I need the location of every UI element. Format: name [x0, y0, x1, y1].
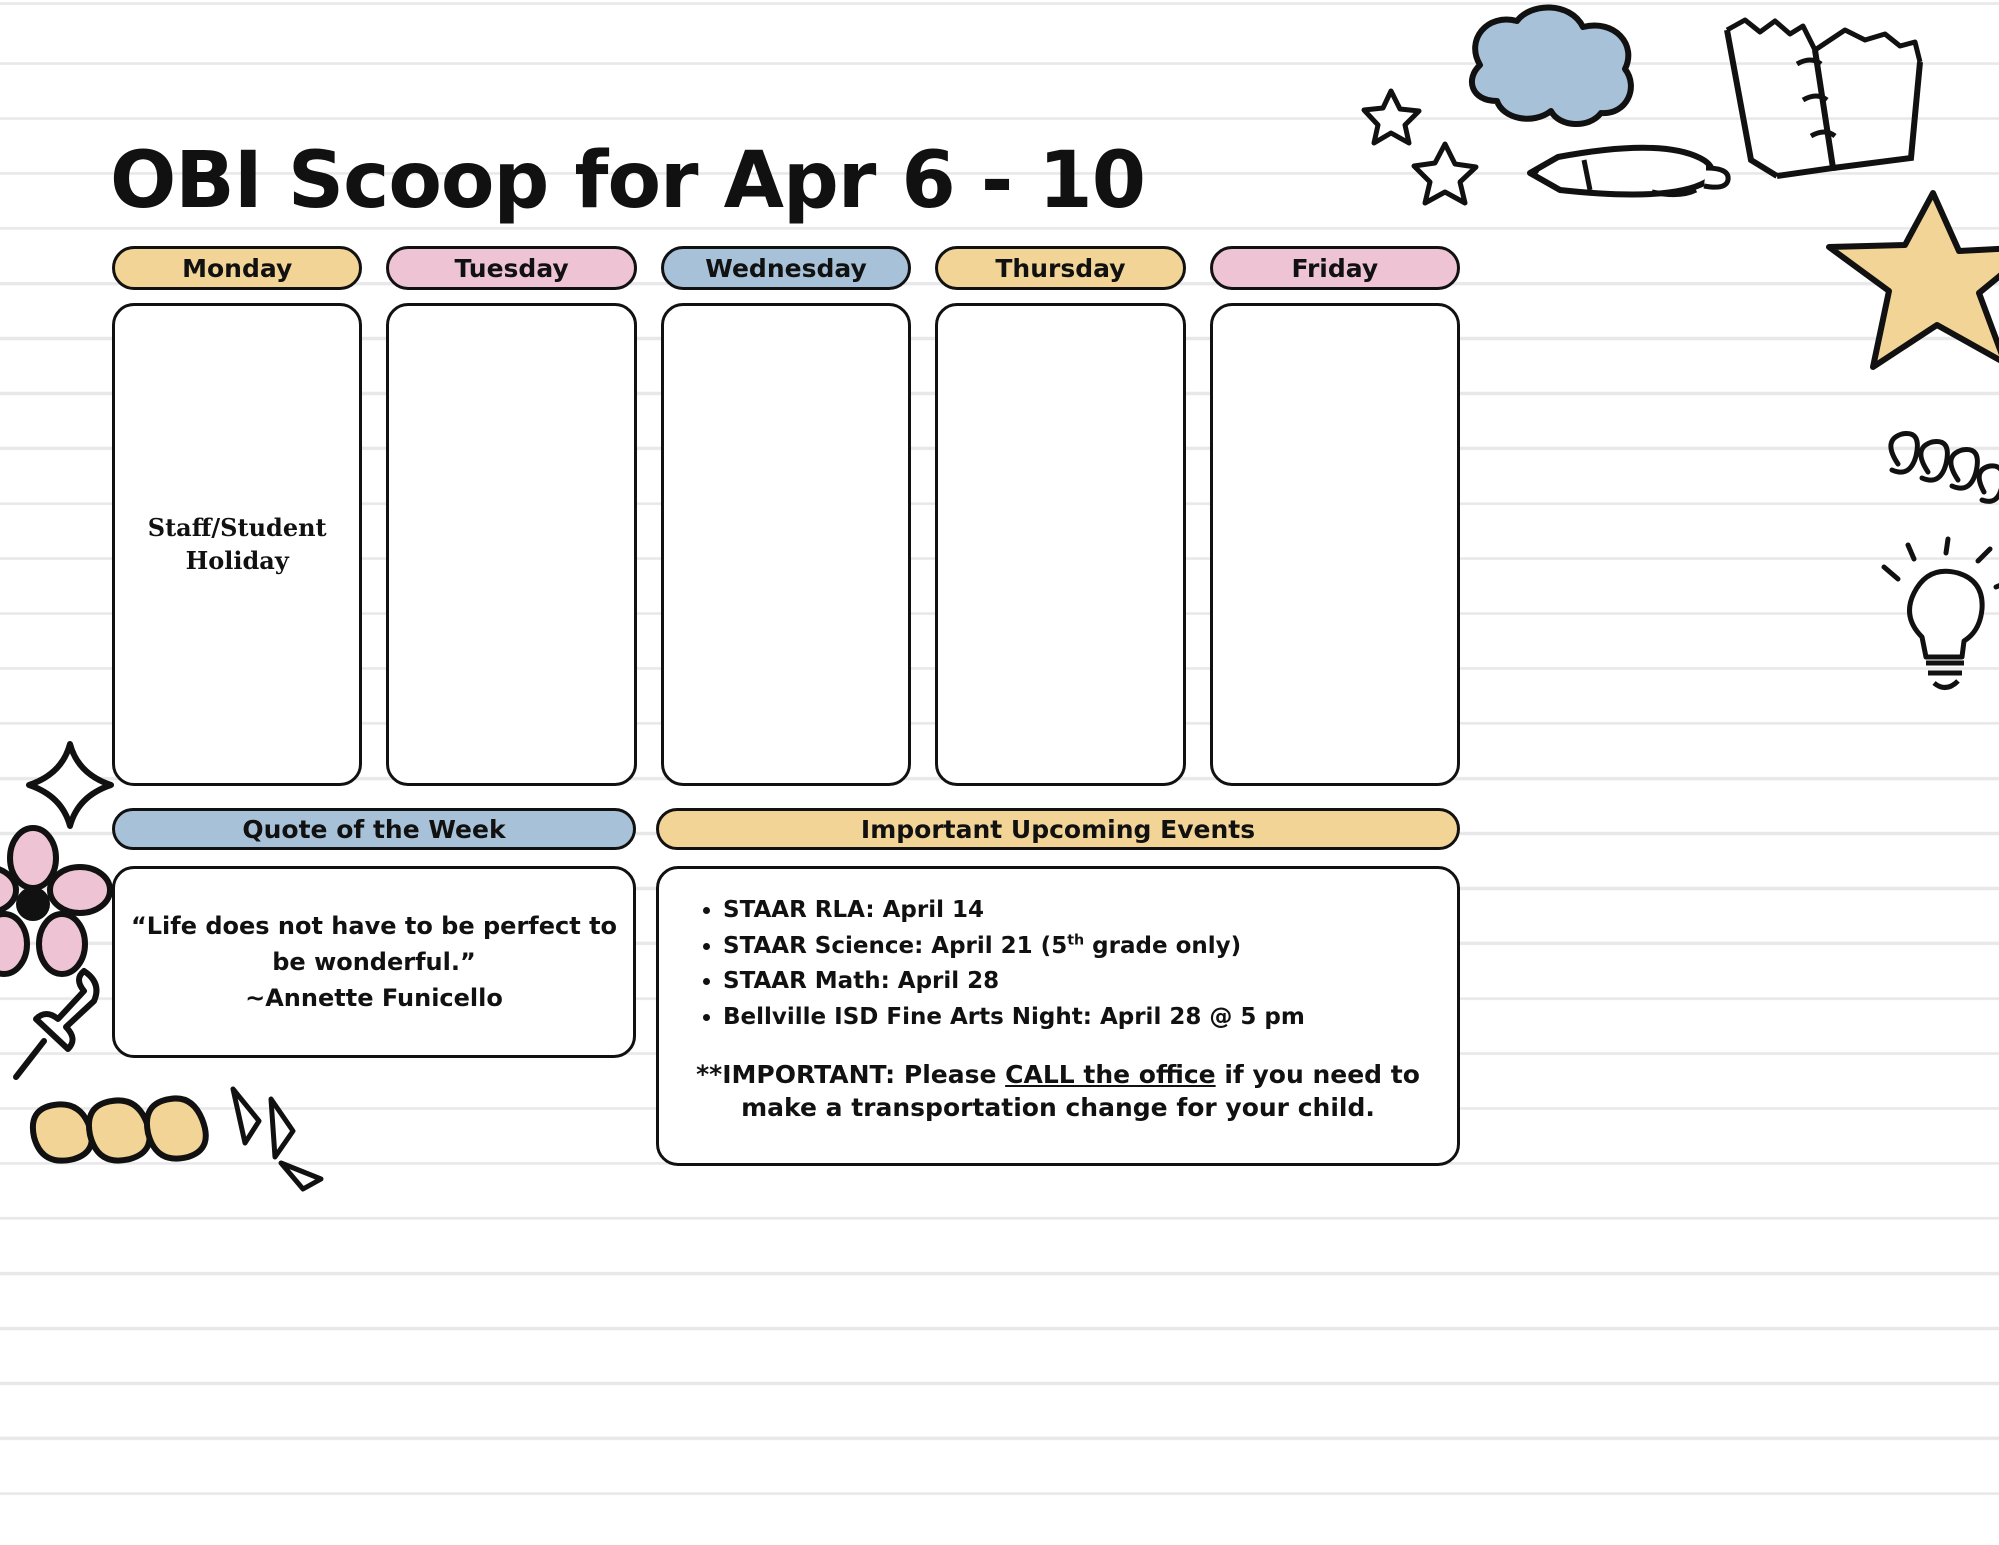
day-cell-monday: Staff/StudentHoliday: [112, 303, 362, 786]
event-text: STAAR Science: April 21 (5: [723, 933, 1067, 959]
day-header-label: Monday: [182, 254, 292, 283]
day-header-label: Friday: [1291, 254, 1378, 283]
day-header-label: Thursday: [995, 254, 1125, 283]
events-section-header-label: Important Upcoming Events: [861, 815, 1255, 844]
quote-text: “Life does not have to be perfect to be …: [129, 908, 619, 980]
events-list: STAAR RLA: April 14 STAAR Science: April…: [689, 893, 1427, 1036]
event-text: Bellville ISD Fine Arts Night: April 28 …: [723, 1004, 1305, 1030]
day-cell-tuesday: [386, 303, 636, 786]
day-header-thursday: Thursday: [935, 246, 1185, 290]
quote-section-header-label: Quote of the Week: [242, 815, 505, 844]
day-cell-wednesday: [661, 303, 911, 786]
important-note: **IMPORTANT: Please CALL the office if y…: [689, 1058, 1427, 1126]
quote-section-header: Quote of the Week: [112, 808, 636, 850]
day-cell-thursday: [935, 303, 1185, 786]
list-item: STAAR Math: April 28: [723, 964, 1427, 1000]
event-text: STAAR Math: April 28: [723, 968, 999, 994]
page-title: OBI Scoop for Apr 6 - 10: [110, 136, 1145, 226]
day-header-monday: Monday: [112, 246, 362, 290]
day-header-friday: Friday: [1210, 246, 1460, 290]
newsletter-page: OBI Scoop for Apr 6 - 10 Monday Tuesday …: [0, 0, 1999, 1545]
day-header-wednesday: Wednesday: [661, 246, 911, 290]
list-item: Bellville ISD Fine Arts Night: April 28 …: [723, 1000, 1427, 1036]
day-cell-text: Staff/StudentHoliday: [148, 512, 327, 577]
day-header-row: Monday Tuesday Wednesday Thursday Friday: [112, 246, 1460, 290]
events-section-box: STAAR RLA: April 14 STAAR Science: April…: [656, 866, 1460, 1166]
list-item: STAAR Science: April 21 (5th grade only): [723, 929, 1427, 965]
quote-attribution: ~Annette Funicello: [129, 980, 619, 1016]
quote-content: “Life does not have to be perfect to be …: [129, 908, 619, 1016]
day-cell-friday: [1210, 303, 1460, 786]
quote-section-box: “Life does not have to be perfect to be …: [112, 866, 636, 1058]
important-note-prefix: **IMPORTANT: Please: [696, 1060, 1005, 1089]
events-section-header: Important Upcoming Events: [656, 808, 1460, 850]
day-cell-row: Staff/StudentHoliday: [112, 303, 1460, 786]
event-text-after: grade only): [1084, 933, 1241, 959]
day-header-label: Wednesday: [705, 254, 866, 283]
event-text: STAAR RLA: April 14: [723, 897, 984, 923]
important-note-underlined: CALL the office: [1005, 1060, 1216, 1089]
day-header-tuesday: Tuesday: [386, 246, 636, 290]
list-item: STAAR RLA: April 14: [723, 893, 1427, 929]
event-superscript: th: [1067, 932, 1084, 948]
day-header-label: Tuesday: [454, 254, 568, 283]
